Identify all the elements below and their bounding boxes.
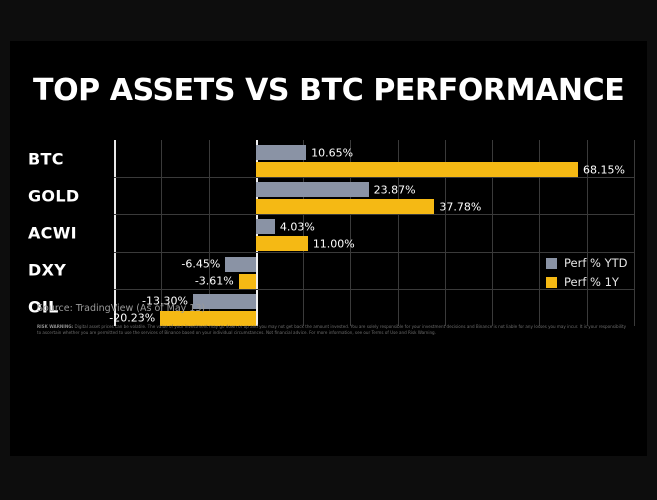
source-note: Source: TradingView (As of May 13) (37, 303, 205, 314)
legend-item-1y: Perf % 1Y (546, 275, 628, 289)
legend-swatch-1y (546, 277, 557, 288)
axis-left-edge (114, 140, 116, 326)
bar-value-gold-1y: 37.78% (439, 200, 481, 213)
grid-line-horizontal (114, 214, 634, 215)
risk-warning: RISK WARNING: Digital asset prices can b… (37, 324, 629, 337)
chart-card: TOP ASSETS VS BTC PERFORMANCE BTCGOLDACW… (10, 41, 647, 456)
risk-warning-lead: RISK WARNING: (37, 324, 73, 329)
page-title: TOP ASSETS VS BTC PERFORMANCE (33, 73, 624, 108)
bar-acwi-ytd (256, 219, 275, 234)
category-label-btc: BTC (28, 149, 64, 168)
bar-acwi-1y (256, 236, 308, 251)
bar-dxy-ytd (225, 257, 255, 272)
category-label-gold: GOLD (28, 186, 79, 205)
bar-value-dxy-1y: -3.61% (195, 275, 234, 288)
category-label-dxy: DXY (28, 261, 66, 280)
legend-label-1y: Perf % 1Y (564, 275, 619, 289)
bottom-bar (0, 456, 657, 500)
chart-legend: Perf % YTD Perf % 1Y (546, 256, 628, 294)
grid-line-horizontal (114, 177, 634, 178)
bar-btc-1y (256, 162, 578, 177)
bar-value-acwi-ytd: 4.03% (280, 220, 315, 233)
bar-gold-ytd (256, 182, 369, 197)
bar-btc-ytd (256, 145, 306, 160)
legend-item-ytd: Perf % YTD (546, 256, 628, 270)
legend-swatch-ytd (546, 258, 557, 269)
bar-dxy-1y (239, 274, 256, 289)
top-bar (0, 0, 657, 41)
bar-chart: BTCGOLDACWIDXYOIL 10.65%68.15%23.87%37.7… (10, 136, 647, 346)
plot-area: 10.65%68.15%23.87%37.78%4.03%11.00%-6.45… (114, 140, 634, 326)
poster-frame: TOP ASSETS VS BTC PERFORMANCE BTCGOLDACW… (0, 0, 657, 500)
bar-gold-1y (256, 199, 435, 214)
category-label-acwi: ACWI (28, 224, 77, 243)
grid-line-horizontal (114, 252, 634, 253)
bar-value-acwi-1y: 11.00% (313, 237, 355, 250)
bar-value-gold-ytd: 23.87% (374, 183, 416, 196)
legend-label-ytd: Perf % YTD (564, 256, 628, 270)
risk-warning-body: Digital asset prices can be volatile. Th… (37, 324, 626, 335)
right-bar (647, 0, 657, 500)
bar-value-dxy-ytd: -6.45% (181, 258, 220, 271)
bar-value-btc-ytd: 10.65% (311, 146, 353, 159)
left-bar (0, 0, 10, 500)
grid-line (634, 140, 635, 326)
category-axis: BTCGOLDACWIDXYOIL (10, 136, 114, 326)
bar-value-btc-1y: 68.15% (583, 163, 625, 176)
